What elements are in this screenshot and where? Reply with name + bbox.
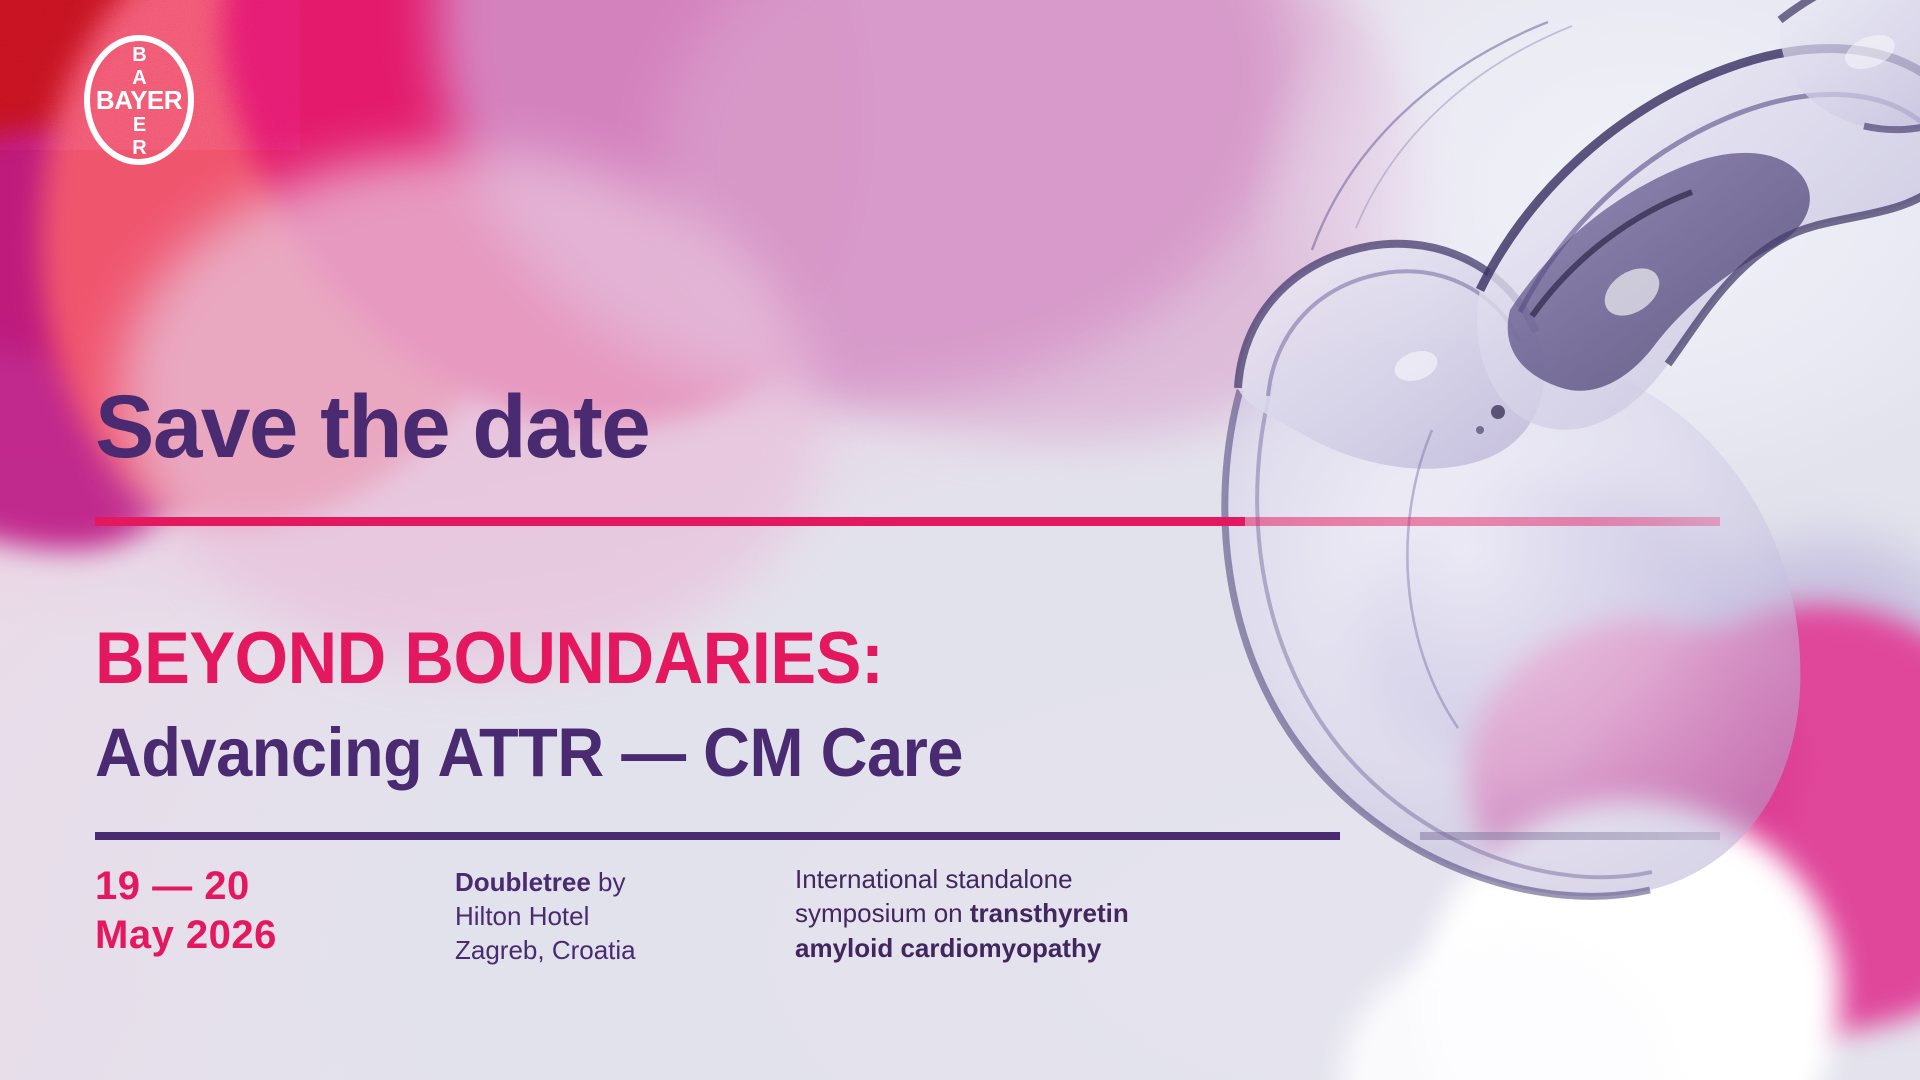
event-description: International standalone symposium on tr… <box>795 862 1129 965</box>
divider-crimson-faded <box>1245 517 1720 526</box>
description-line-2: symposium on transthyretin <box>795 896 1129 930</box>
date-line-2: May 2026 <box>95 911 277 960</box>
description-lead-text: symposium on <box>795 898 970 928</box>
venue-brand: Doubletree <box>455 867 591 897</box>
divider-purple-solid <box>95 832 1340 840</box>
event-venue: Doubletree by Hilton Hotel Zagreb, Croat… <box>455 866 636 967</box>
venue-line-3: Zagreb, Croatia <box>455 934 636 968</box>
date-line-1: 19 — 20 <box>95 862 277 911</box>
poster-content: Save the date BEYOND BOUNDARIES: Advanci… <box>0 0 1920 1080</box>
description-bold-1: transthyretin <box>970 898 1129 928</box>
event-date: 19 — 20 May 2026 <box>95 862 277 960</box>
description-line-1: International standalone <box>795 862 1129 896</box>
venue-line-1: Doubletree by <box>455 866 636 900</box>
divider-crimson-solid <box>95 517 1245 526</box>
venue-line-2: Hilton Hotel <box>455 900 636 934</box>
description-line-3: amyloid cardiomyopathy <box>795 931 1129 965</box>
venue-by: by <box>591 867 626 897</box>
description-bold-2: amyloid cardiomyopathy <box>795 933 1101 963</box>
title-main: BEYOND BOUNDARIES: <box>95 622 883 695</box>
eyebrow-headline: Save the date <box>95 384 649 469</box>
save-the-date-poster: BAYER B A E R Save the date BEYOND BOUND… <box>0 0 1920 1080</box>
title-subtitle: Advancing ATTR — CM Care <box>95 718 963 787</box>
divider-purple-faded <box>1420 832 1720 840</box>
